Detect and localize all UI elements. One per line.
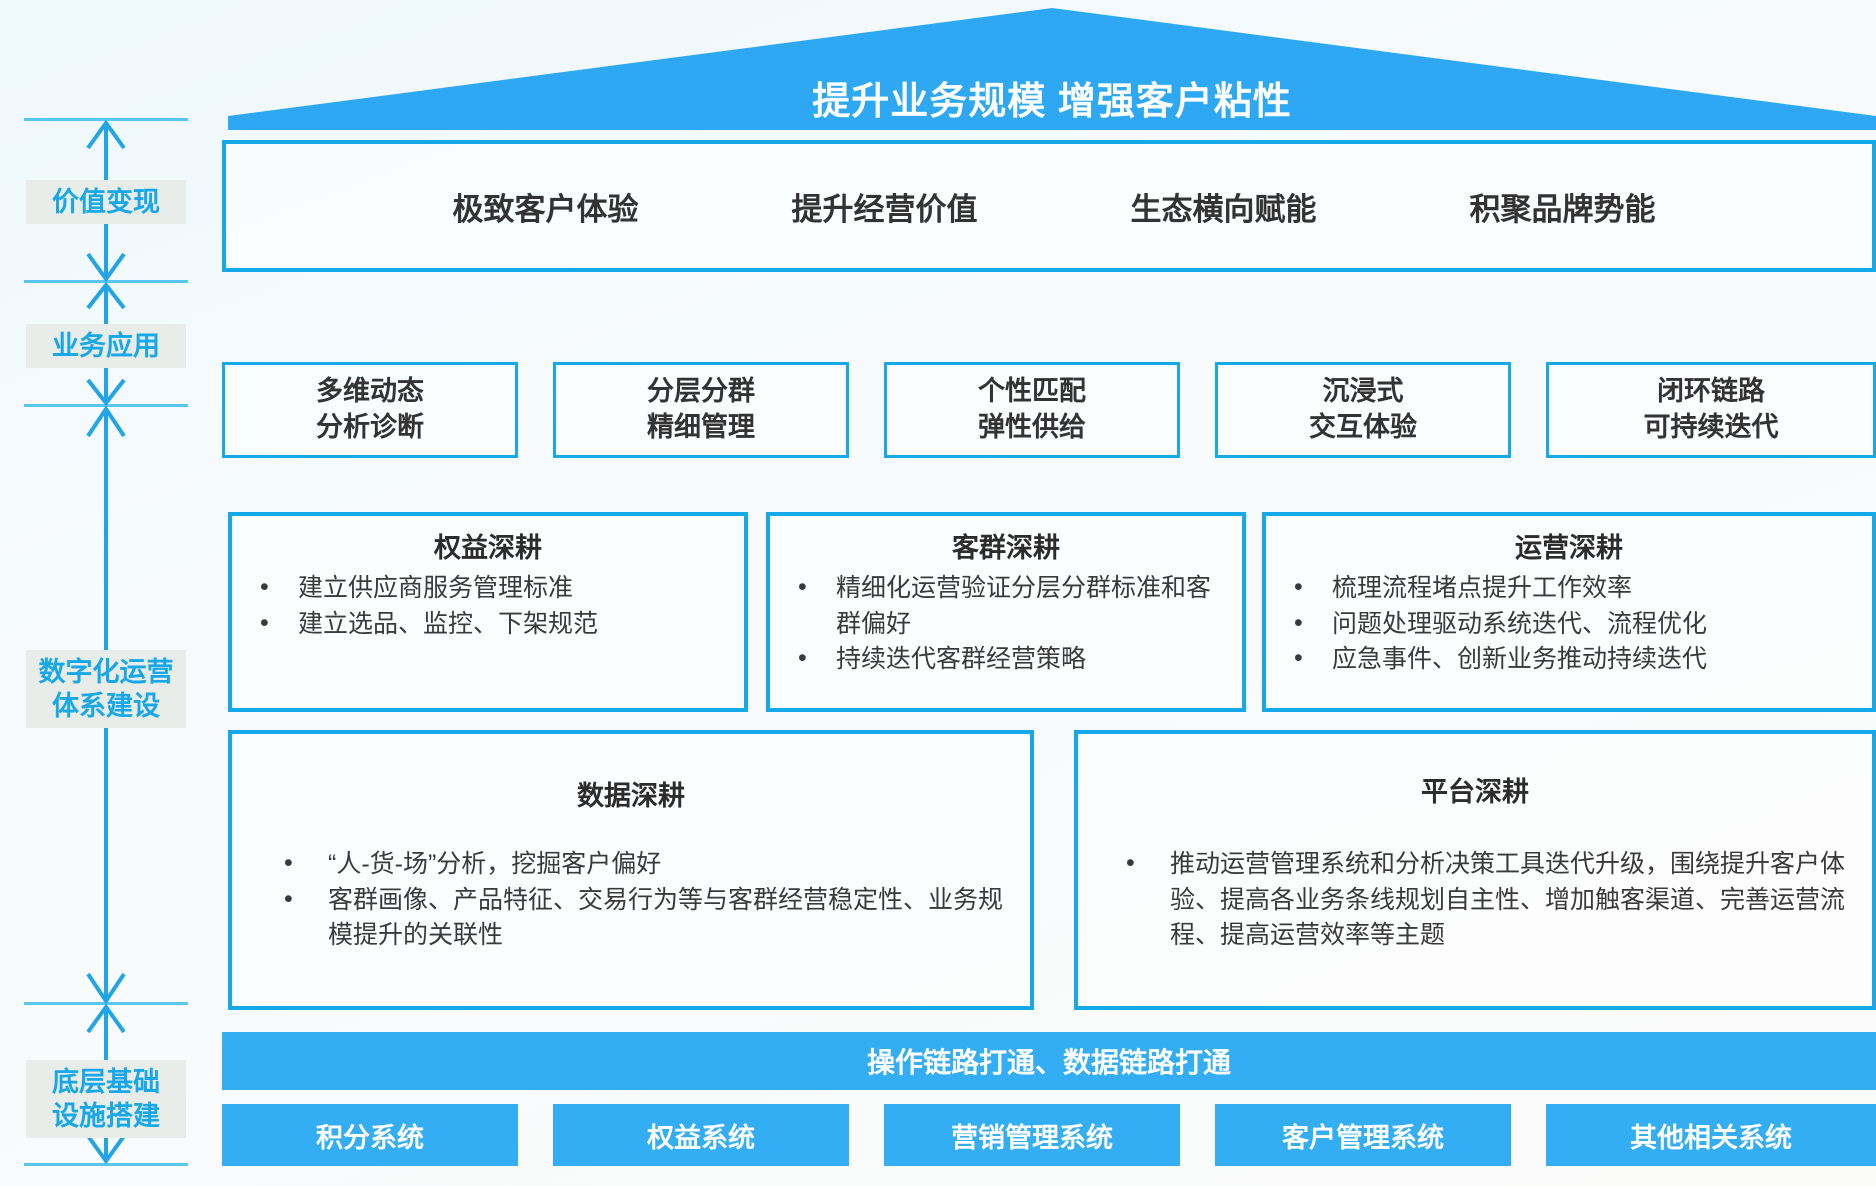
list-item: 建立选品、监控、下架规范 (244, 607, 732, 643)
value-item: 生态横向赋能 (1054, 184, 1393, 229)
value-item: 极致客户体验 (376, 184, 715, 229)
rail-tag-line: 价值变现 (30, 185, 182, 219)
list-item: 应急事件、创新业务推动持续迭代 (1278, 642, 1860, 678)
list-item: 问题处理驱动系统迭代、流程优化 (1278, 607, 1860, 643)
rail-tag-line: 业务应用 (30, 329, 182, 363)
deep-card-title: 客群深耕 (782, 526, 1230, 565)
deep-card-bullets: 推动运营管理系统和分析决策工具迭代升级，围绕提升客户体验、提高各业务条线规划自主… (1090, 847, 1860, 954)
bizapp-card-immersive[interactable]: 沉浸式 交互体验 (1215, 362, 1511, 458)
left-rail: 价值变现 业务应用 数字化运营 体系建设 底层基础 设施搭建 (18, 118, 194, 1168)
business-application-row: 多维动态 分析诊断 分层分群 精细管理 个性匹配 弹性供给 沉浸式 交互体验 闭… (222, 362, 1876, 458)
deep-card-rights[interactable]: 权益深耕 建立供应商服务管理标准 建立选品、监控、下架规范 (228, 512, 748, 712)
deep-card-title: 运营深耕 (1278, 526, 1860, 565)
list-item: “人-货-场”分析，挖掘客户偏好 (244, 847, 1018, 883)
bizapp-line-1: 个性匹配 (978, 374, 1086, 410)
list-item: 精细化运营验证分层分群标准和客群偏好 (782, 571, 1230, 642)
list-item: 客群画像、产品特征、交易行为等与客群经营稳定性、业务规模提升的关联性 (244, 883, 1018, 954)
list-item: 持续迭代客群经营策略 (782, 642, 1230, 678)
rail-tag-line: 底层基础 (30, 1065, 182, 1099)
system-button-customer[interactable]: 客户管理系统 (1215, 1104, 1511, 1166)
bizapp-card-personal-match[interactable]: 个性匹配 弹性供给 (884, 362, 1180, 458)
rail-tag-digital-operations: 数字化运营 体系建设 (26, 650, 186, 728)
bizapp-line-1: 沉浸式 (1323, 374, 1404, 410)
bizapp-card-multidim[interactable]: 多维动态 分析诊断 (222, 362, 518, 458)
roof-label: 提升业务规模 增强客户粘性 (228, 70, 1876, 125)
bizapp-line-1: 闭环链路 (1657, 374, 1765, 410)
system-button-row: 积分系统 权益系统 营销管理系统 客户管理系统 其他相关系统 (222, 1104, 1876, 1166)
deep-card-bullets: “人-货-场”分析，挖掘客户偏好 客群画像、产品特征、交易行为等与客群经营稳定性… (244, 847, 1018, 954)
rail-tag-line: 体系建设 (30, 689, 182, 723)
deep-card-bullets: 建立供应商服务管理标准 建立选品、监控、下架规范 (244, 571, 732, 642)
bizapp-card-segmentation[interactable]: 分层分群 精细管理 (553, 362, 849, 458)
deep-card-title: 数据深耕 (244, 774, 1018, 813)
value-item: 积聚品牌势能 (1393, 184, 1732, 229)
rail-tag-line: 设施搭建 (30, 1099, 182, 1133)
bizapp-line-2: 可持续迭代 (1644, 410, 1779, 446)
rail-tag-business-application: 业务应用 (26, 324, 186, 368)
deep-card-platform[interactable]: 平台深耕 推动运营管理系统和分析决策工具迭代升级，围绕提升客户体验、提高各业务条… (1074, 730, 1876, 1010)
system-button-other[interactable]: 其他相关系统 (1546, 1104, 1876, 1166)
bizapp-line-2: 交互体验 (1309, 410, 1417, 446)
deep-card-bullets: 精细化运营验证分层分群标准和客群偏好 持续迭代客群经营策略 (782, 571, 1230, 678)
deep-card-title: 权益深耕 (244, 526, 732, 565)
system-button-points[interactable]: 积分系统 (222, 1104, 518, 1166)
value-realization-panel: 极致客户体验 提升经营价值 生态横向赋能 积聚品牌势能 (222, 140, 1876, 272)
deep-card-operations[interactable]: 运营深耕 梳理流程堵点提升工作效率 问题处理驱动系统迭代、流程优化 应急事件、创… (1262, 512, 1876, 712)
rail-tag-value-realization: 价值变现 (26, 180, 186, 224)
bizapp-line-2: 精细管理 (647, 410, 755, 446)
list-item: 推动运营管理系统和分析决策工具迭代升级，围绕提升客户体验、提高各业务条线规划自主… (1090, 847, 1860, 954)
deep-card-customer-group[interactable]: 客群深耕 精细化运营验证分层分群标准和客群偏好 持续迭代客群经营策略 (766, 512, 1246, 712)
bizapp-line-1: 分层分群 (647, 374, 755, 410)
list-item: 梳理流程堵点提升工作效率 (1278, 571, 1860, 607)
bizapp-card-closed-loop[interactable]: 闭环链路 可持续迭代 (1546, 362, 1876, 458)
rail-tag-line: 数字化运营 (30, 655, 182, 689)
system-button-marketing[interactable]: 营销管理系统 (884, 1104, 1180, 1166)
deep-card-data[interactable]: 数据深耕 “人-货-场”分析，挖掘客户偏好 客群画像、产品特征、交易行为等与客群… (228, 730, 1034, 1010)
infrastructure-bar-label: 操作链路打通、数据链路打通 (867, 1041, 1231, 1081)
bizapp-line-1: 多维动态 (316, 374, 424, 410)
bizapp-line-2: 分析诊断 (316, 410, 424, 446)
roof-banner: 提升业务规模 增强客户粘性 (228, 8, 1876, 130)
infrastructure-bar: 操作链路打通、数据链路打通 (222, 1032, 1876, 1090)
diagram-canvas: 提升业务规模 增强客户粘性 (0, 0, 1876, 1186)
system-button-rights[interactable]: 权益系统 (553, 1104, 849, 1166)
value-item: 提升经营价值 (715, 184, 1054, 229)
bizapp-line-2: 弹性供给 (978, 410, 1086, 446)
deep-card-bullets: 梳理流程堵点提升工作效率 问题处理驱动系统迭代、流程优化 应急事件、创新业务推动… (1278, 571, 1860, 678)
deep-card-title: 平台深耕 (1090, 770, 1860, 809)
list-item: 建立供应商服务管理标准 (244, 571, 732, 607)
rail-tag-infrastructure: 底层基础 设施搭建 (26, 1060, 186, 1138)
